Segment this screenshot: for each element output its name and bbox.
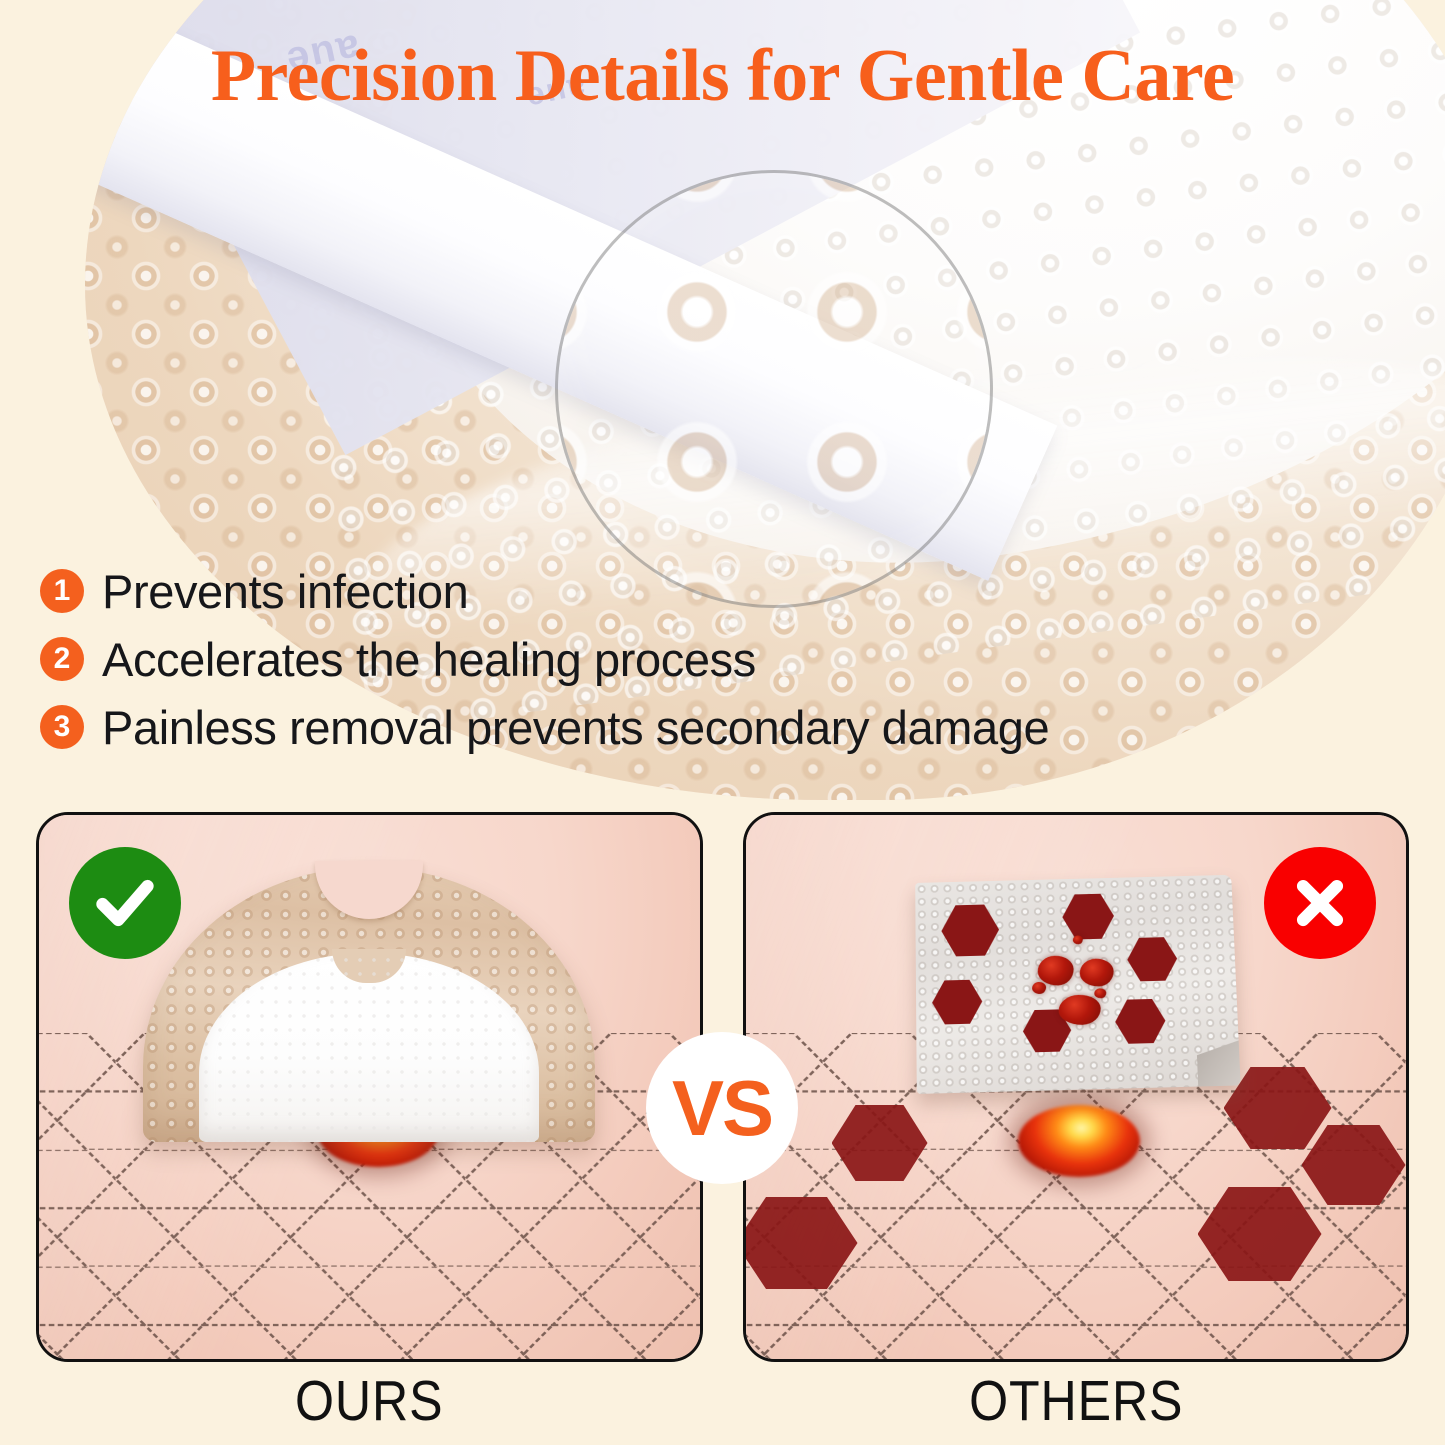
panel-ours bbox=[36, 812, 703, 1362]
gauze-torn-hex bbox=[1114, 999, 1166, 1044]
wound-lesion-others bbox=[1018, 1105, 1140, 1177]
blood-stain bbox=[1079, 958, 1114, 987]
feature-label-1: Prevents infection bbox=[102, 564, 468, 619]
list-item: 2 Accelerates the healing process bbox=[40, 628, 1220, 690]
vs-badge: VS bbox=[646, 1032, 798, 1184]
caption-others: OTHERS bbox=[782, 1368, 1369, 1434]
ours-bandage-arch bbox=[143, 867, 595, 1142]
close-icon bbox=[1264, 847, 1376, 959]
number-badge-2: 2 bbox=[40, 637, 84, 681]
number-badge-3: 3 bbox=[40, 705, 84, 749]
list-item: 1 Prevents infection bbox=[40, 560, 1220, 622]
bandage-inner-notch bbox=[332, 949, 406, 983]
caption-ours: OURS bbox=[76, 1368, 663, 1434]
list-item: 3 Painless removal prevents secondary da… bbox=[40, 696, 1220, 758]
infographic-page: aue aue aue Precision Details for Gentle… bbox=[0, 0, 1445, 1445]
gauze-torn-hex bbox=[932, 979, 983, 1024]
gauze-torn-hex bbox=[1062, 893, 1115, 939]
blood-stain bbox=[1032, 982, 1046, 994]
page-title: Precision Details for Gentle Care bbox=[0, 34, 1445, 119]
blood-stain bbox=[1058, 994, 1101, 1025]
magnifier-circle-icon bbox=[555, 170, 993, 608]
number-badge-1: 1 bbox=[40, 569, 84, 613]
blood-stain bbox=[1073, 935, 1083, 944]
check-icon bbox=[69, 847, 181, 959]
panel-others bbox=[743, 812, 1410, 1362]
blood-stain bbox=[1037, 955, 1074, 986]
panel-captions: OURS OTHERS bbox=[36, 1368, 1409, 1434]
feature-label-3: Painless removal prevents secondary dama… bbox=[102, 700, 1049, 755]
feature-label-2: Accelerates the healing process bbox=[102, 632, 756, 687]
vs-label: VS bbox=[672, 1069, 772, 1147]
gauze-torn-hex bbox=[1126, 937, 1177, 982]
gauze-curled-corner bbox=[1197, 1035, 1241, 1094]
blood-stain bbox=[1094, 988, 1106, 998]
gauze-torn-hex bbox=[941, 904, 999, 957]
others-gauze-sheet bbox=[915, 875, 1240, 1094]
feature-list: 1 Prevents infection 2 Accelerates the h… bbox=[40, 560, 1220, 764]
